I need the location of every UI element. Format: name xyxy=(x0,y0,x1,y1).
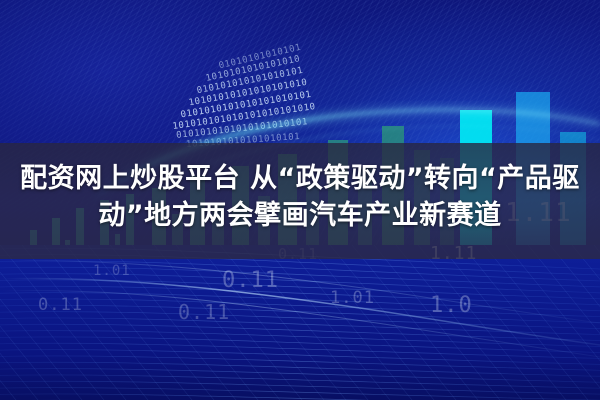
overlay-number-3: 1.01 xyxy=(330,288,375,308)
banner-image: 0101010101010110101010101010100101010101… xyxy=(0,0,600,400)
headline-line-2: 动”地方两会擘画汽车产业新赛道 xyxy=(0,197,600,234)
overlay-number-7: 0.11 xyxy=(38,295,83,315)
overlay-number-6: 1.0 xyxy=(430,293,473,318)
overlay-number-4: 0.11 xyxy=(178,300,230,324)
headline-text: 配资网上炒股平台 从“政策驱动”转向“产品驱 动”地方两会擘画汽车产业新赛道 xyxy=(0,160,600,234)
headline-line-1: 配资网上炒股平台 从“政策驱动”转向“产品驱 xyxy=(0,160,600,197)
overlay-number-8: 1.01 xyxy=(93,263,131,279)
overlay-number-2: 0.11 xyxy=(222,268,279,293)
